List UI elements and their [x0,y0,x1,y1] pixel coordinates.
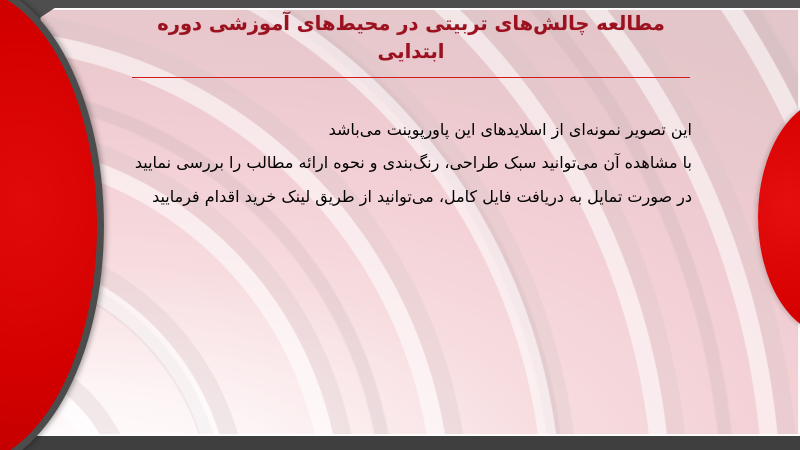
slide-title: مطالعه چالش‌های تربیتی در محیط‌های آموزش… [130,10,692,65]
presentation-slide: مطالعه چالش‌های تربیتی در محیط‌های آموزش… [0,0,800,450]
title-divider-rule [132,77,690,78]
slide-content-panel [14,8,800,436]
body-line-3: در صورت تمایل به دریافت فایل کامل، می‌تو… [120,185,692,209]
slide-body-block: این تصویر نمونه‌ای از اسلایدهای این پاور… [120,118,692,209]
body-line-1: این تصویر نمونه‌ای از اسلایدهای این پاور… [120,118,692,142]
slide-title-block: مطالعه چالش‌های تربیتی در محیط‌های آموزش… [130,10,692,65]
body-line-2: با مشاهده آن می‌توانید سبک طراحی، رنگ‌بن… [120,151,692,175]
